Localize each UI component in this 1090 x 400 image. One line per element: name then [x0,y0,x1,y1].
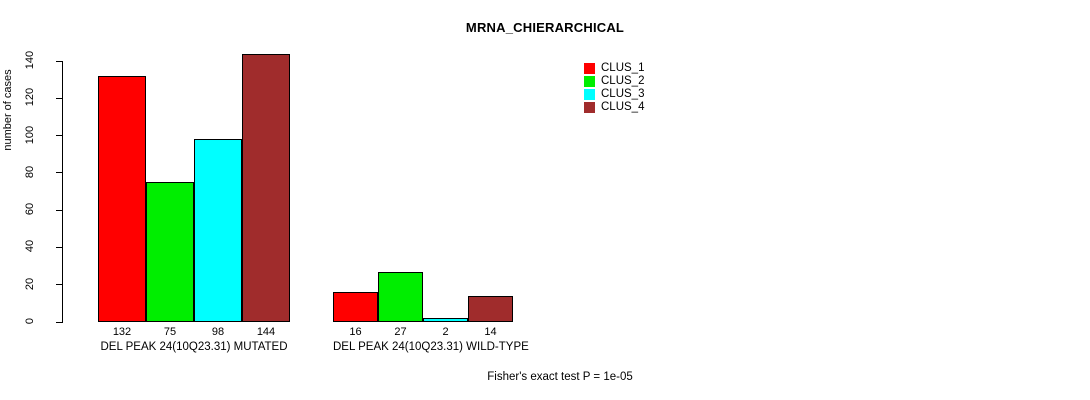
bar [378,272,423,322]
legend-item: CLUS_3 [584,88,644,101]
bar-value-label: 27 [378,326,423,338]
statistical-test-annotation: Fisher's exact test P = 1e-05 [0,371,1090,383]
legend-swatch-icon [584,63,595,74]
x-axis-group-label: DEL PEAK 24(10Q23.31) MUTATED [98,341,290,353]
bar [242,54,290,322]
legend-swatch-icon [584,102,595,113]
legend-item: CLUS_4 [584,101,644,114]
legend-item-label: CLUS_2 [601,75,644,88]
bar [146,182,194,322]
x-axis-group-label: DEL PEAK 24(10Q23.31) WILD-TYPE [333,341,513,353]
legend-item-label: CLUS_4 [601,101,644,114]
bar-value-label: 16 [333,326,378,338]
bar-value-label: 2 [423,326,468,338]
legend-swatch-icon [584,89,595,100]
bar [98,76,146,322]
legend-item: CLUS_1 [584,62,644,75]
chart-canvas: MRNA_CHIERARCHICAL number of cases 02040… [0,0,1090,400]
bar [194,139,242,322]
legend-item-label: CLUS_1 [601,62,644,75]
bar-value-label: 98 [194,326,242,338]
legend-swatch-icon [584,76,595,87]
bar-value-label: 132 [98,326,146,338]
bar-value-label: 14 [468,326,513,338]
bar [333,292,378,322]
legend: CLUS_1CLUS_2CLUS_3CLUS_4 [584,62,644,114]
legend-item-label: CLUS_3 [601,88,644,101]
legend-item: CLUS_2 [584,75,644,88]
bar-value-label: 144 [242,326,290,338]
plot-area: 1327598144DEL PEAK 24(10Q23.31) MUTATED1… [0,0,1090,400]
bar [468,296,513,322]
bar [423,318,468,322]
bar-value-label: 75 [146,326,194,338]
